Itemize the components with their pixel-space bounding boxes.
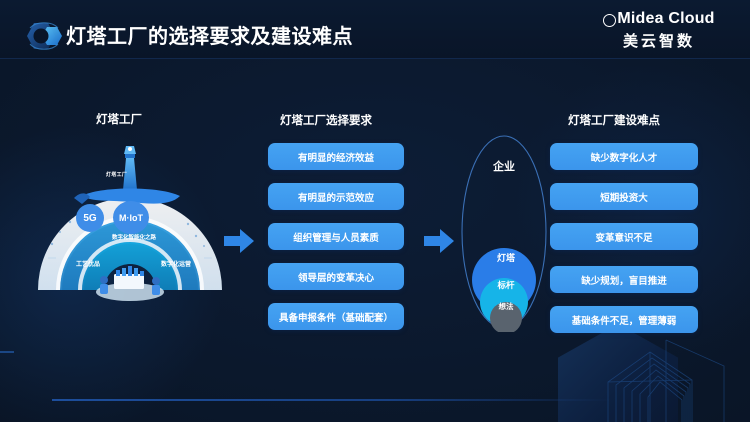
column-heading-left: 灯塔工厂 bbox=[96, 111, 142, 127]
difficulty-pill-5[interactable]: 基础条件不足，管理薄弱 bbox=[550, 306, 698, 333]
enterprise-ellipse-diagram: 企业 灯塔 标杆 想法 bbox=[458, 132, 550, 332]
ellipse-outer-label: 企业 bbox=[458, 158, 550, 174]
lighthouse-factory-illustration: 灯塔工厂 5G M·IoT 数字化智能化之路 工艺优品 数字化运营 bbox=[30, 140, 230, 325]
background-dash-left bbox=[0, 351, 14, 353]
illustration-chip-miot: M·IoT bbox=[113, 201, 149, 234]
brand-circle-icon bbox=[603, 14, 616, 27]
requirement-pill-2[interactable]: 有明显的示范效应 bbox=[268, 183, 404, 210]
hexagon-cube-logo-icon bbox=[22, 19, 66, 53]
arrow-middle-to-right-icon bbox=[424, 228, 454, 254]
brand-name-cn: 美云智数 bbox=[584, 30, 734, 51]
difficulty-pill-2[interactable]: 短期投资大 bbox=[550, 183, 698, 210]
illustration-ring-label-3: 数字化运营 bbox=[161, 262, 191, 269]
requirement-pill-5[interactable]: 具备申报条件（基础配套） bbox=[268, 303, 404, 330]
background-polygon-shape bbox=[558, 324, 678, 422]
background-bottom-line bbox=[52, 399, 612, 401]
brand-logo: Midea Cloud 美云智数 bbox=[584, 10, 734, 51]
illustration-banner-label: 灯塔工厂 bbox=[106, 171, 127, 178]
background-wireframe-icon bbox=[606, 322, 750, 422]
ellipse-circle-label-lighthouse: 灯塔 bbox=[484, 251, 528, 264]
difficulty-pill-3[interactable]: 变革意识不足 bbox=[550, 223, 698, 250]
slide-header: 灯塔工厂的选择要求及建设难点 Midea Cloud 美云智数 bbox=[0, 0, 750, 59]
column-heading-middle: 灯塔工厂选择要求 bbox=[280, 112, 372, 128]
brand-name-en-row: Midea Cloud bbox=[584, 10, 734, 28]
ellipse-circle-label-benchmark: 标杆 bbox=[484, 279, 528, 291]
arrow-left-to-middle-icon bbox=[224, 228, 254, 254]
requirement-pill-3[interactable]: 组织管理与人员素质 bbox=[268, 223, 404, 250]
difficulty-pill-1[interactable]: 缺少数字化人才 bbox=[550, 143, 698, 170]
illustration-ring-label-2: 工艺优品 bbox=[74, 262, 102, 269]
ellipse-circle-label-idea: 想法 bbox=[488, 302, 524, 311]
difficulty-pill-4[interactable]: 缺少规划，盲目推进 bbox=[550, 266, 698, 293]
column-heading-right: 灯塔工厂建设难点 bbox=[568, 112, 660, 128]
illustration-chip-5g: 5G bbox=[76, 204, 104, 232]
page-title: 灯塔工厂的选择要求及建设难点 bbox=[66, 20, 353, 49]
requirement-pill-1[interactable]: 有明显的经济效益 bbox=[268, 143, 404, 170]
brand-name-en: Midea Cloud bbox=[617, 10, 714, 28]
requirement-pill-4[interactable]: 领导层的变革决心 bbox=[268, 263, 404, 290]
illustration-ring-label-1: 数字化智能化之路 bbox=[108, 235, 160, 242]
